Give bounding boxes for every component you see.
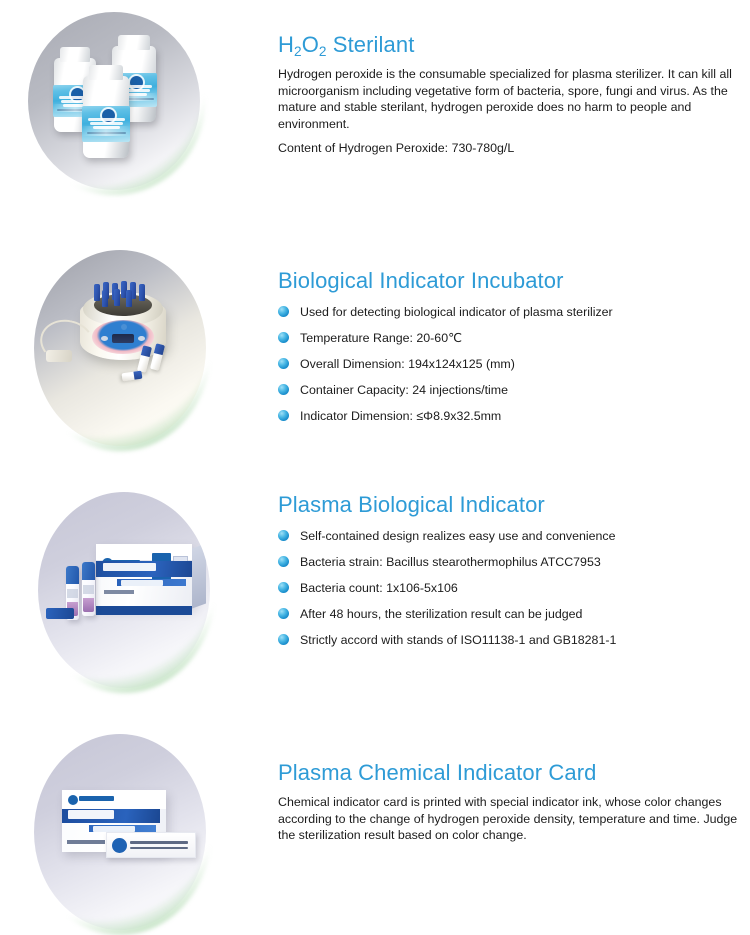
title-subscript-2: 2 [294,44,302,59]
bullet-dot-icon [278,608,289,619]
spec-list-item-label: Temperature Range: 20-60℃ [300,331,462,345]
spec-list-item-label: Container Capacity: 24 injections/time [300,383,508,397]
title-sterilant: Sterilant [327,32,415,57]
bullet-dot-icon [278,358,289,369]
box-side-face [192,544,206,609]
incubator-vial [126,290,132,307]
spec-list-item-label: Bacteria strain: Bacillus stearothermoph… [300,555,601,569]
box-bottom-edge [96,606,192,615]
vial-cap-icon [66,566,79,584]
bullet-dot-icon [278,634,289,645]
incubator-button-left[interactable] [101,336,108,341]
product-text-plasma-chemical-indicator-card: Plasma Chemical Indicator Card Chemical … [278,760,740,844]
product-image-plasma-chemical-indicator-card [34,734,206,930]
indicator-vial-flat [46,608,74,619]
product-spec-content: Content of Hydrogen Peroxide: 730-780g/L [278,140,740,156]
spec-list-item: Temperature Range: 20-60℃ [278,330,740,346]
incubator-display [112,334,134,343]
incubator-vial [102,290,108,307]
bullet-dot-icon [278,332,289,343]
label-text-line [88,118,124,121]
incubator-led-icon [121,324,127,330]
product-description: Hydrogen peroxide is the consumable spec… [278,66,740,132]
spec-list-item-label: Strictly accord with stands of ISO11138-… [300,633,616,647]
label-text-line [90,122,122,125]
spec-list-item-label: After 48 hours, the sterilization result… [300,607,582,621]
incubator-vial [94,284,100,301]
box-manufacturer-text [67,840,104,844]
title-subscript-2b: 2 [319,44,327,59]
vial-cap-icon [82,562,95,580]
brand-name-text [79,796,114,801]
incubator-button-right[interactable] [138,336,145,341]
title-o: O [302,32,319,57]
spec-list-item-label: Bacteria count: 1x106-5x106 [300,581,458,595]
spec-list-item: Container Capacity: 24 injections/time [278,382,740,398]
vial-liquid [83,598,94,612]
product-photo-circle [34,250,206,446]
spec-list-biological-indicator-incubator: Used for detecting biological indicator … [278,304,740,424]
bullet-dot-icon [278,384,289,395]
bottle-label [82,106,131,142]
vial-label-strip [67,589,78,599]
spec-list-plasma-biological-indicator: Self-contained design realizes easy use … [278,528,740,648]
product-title-plasma-chemical-indicator-card: Plasma Chemical Indicator Card [278,760,740,785]
product-title-biological-indicator-incubator: Biological Indicator Incubator [278,268,740,293]
card-logo-icon [112,838,127,853]
incubator-vial [139,284,145,301]
bullet-dot-icon [278,410,289,421]
product-title-h2o2-sterilant: H2O2 Sterilant [278,32,740,57]
spec-list-item: Bacteria strain: Bacillus stearothermoph… [278,554,740,570]
product-text-plasma-biological-indicator: Plasma Biological Indicator Self-contain… [278,492,740,658]
box-title-text [68,810,114,819]
box-subtitle-text [121,580,163,586]
spec-list-item: Overall Dimension: 194x124x125 (mm) [278,356,740,372]
spec-list-item-label: Used for detecting biological indicator … [300,305,613,319]
product-photo-circle [28,12,200,190]
product-section-plasma-biological-indicator: Plasma Biological Indicator Self-contain… [0,470,750,720]
loose-indicator-vial [122,371,143,382]
product-section-biological-indicator-incubator: Biological Indicator Incubator Used for … [0,240,750,480]
bottle-cap-icon [60,47,90,62]
label-text-line [87,132,127,134]
product-text-h2o2-sterilant: H2O2 Sterilant Hydrogen peroxide is the … [278,32,740,156]
product-spec-page: H2O2 Sterilant Hydrogen peroxide is the … [0,0,750,892]
product-photo-circle [34,734,206,930]
spec-list-item: Used for detecting biological indicator … [278,304,740,320]
title-h: H [278,32,294,57]
chemical-indicator-card-strip [106,832,196,858]
bullet-dot-icon [278,556,289,567]
box-title-text [103,563,157,571]
biological-indicator-box [96,544,192,606]
incubator-vial [114,289,120,306]
product-description: Chemical indicator card is printed with … [278,794,740,843]
product-image-plasma-biological-indicator [38,492,210,688]
bottle-cap-icon [89,65,122,80]
incubator-body [80,298,166,360]
spec-list-item: Bacteria count: 1x106-5x106 [278,580,740,596]
product-title-plasma-biological-indicator: Plasma Biological Indicator [278,492,740,517]
spec-list-item: After 48 hours, the sterilization result… [278,606,740,622]
vial-label-strip [83,585,94,595]
product-image-h2o2-sterilant [28,12,200,190]
spec-list-item: Strictly accord with stands of ISO11138-… [278,632,740,648]
product-photo-circle [38,492,210,688]
product-section-plasma-chemical-indicator-card: Plasma Chemical Indicator Card Chemical … [0,718,750,892]
label-text-line [93,126,119,129]
product-text-biological-indicator-incubator: Biological Indicator Incubator Used for … [278,268,740,434]
incubator-power-plug [46,350,72,362]
spec-list-item: Indicator Dimension: ≤Φ8.9x32.5mm [278,408,740,424]
box-manufacturer-text [104,590,135,594]
bullet-dot-icon [278,306,289,317]
product-image-biological-indicator-incubator [34,250,206,446]
spec-list-item-label: Indicator Dimension: ≤Φ8.9x32.5mm [300,409,501,423]
card-text-line [130,847,188,849]
sterilant-bottle-front [83,76,129,158]
bullet-dot-icon [278,530,289,541]
indicator-vial [82,562,95,616]
card-text-line [130,841,188,844]
bottle-cap-icon [118,35,150,50]
spec-list-item: Self-contained design realizes easy use … [278,528,740,544]
spec-list-item-label: Self-contained design realizes easy use … [300,529,615,543]
spec-list-item-label: Overall Dimension: 194x124x125 (mm) [300,357,515,371]
product-section-h2o2-sterilant: H2O2 Sterilant Hydrogen peroxide is the … [0,0,750,240]
bullet-dot-icon [278,582,289,593]
